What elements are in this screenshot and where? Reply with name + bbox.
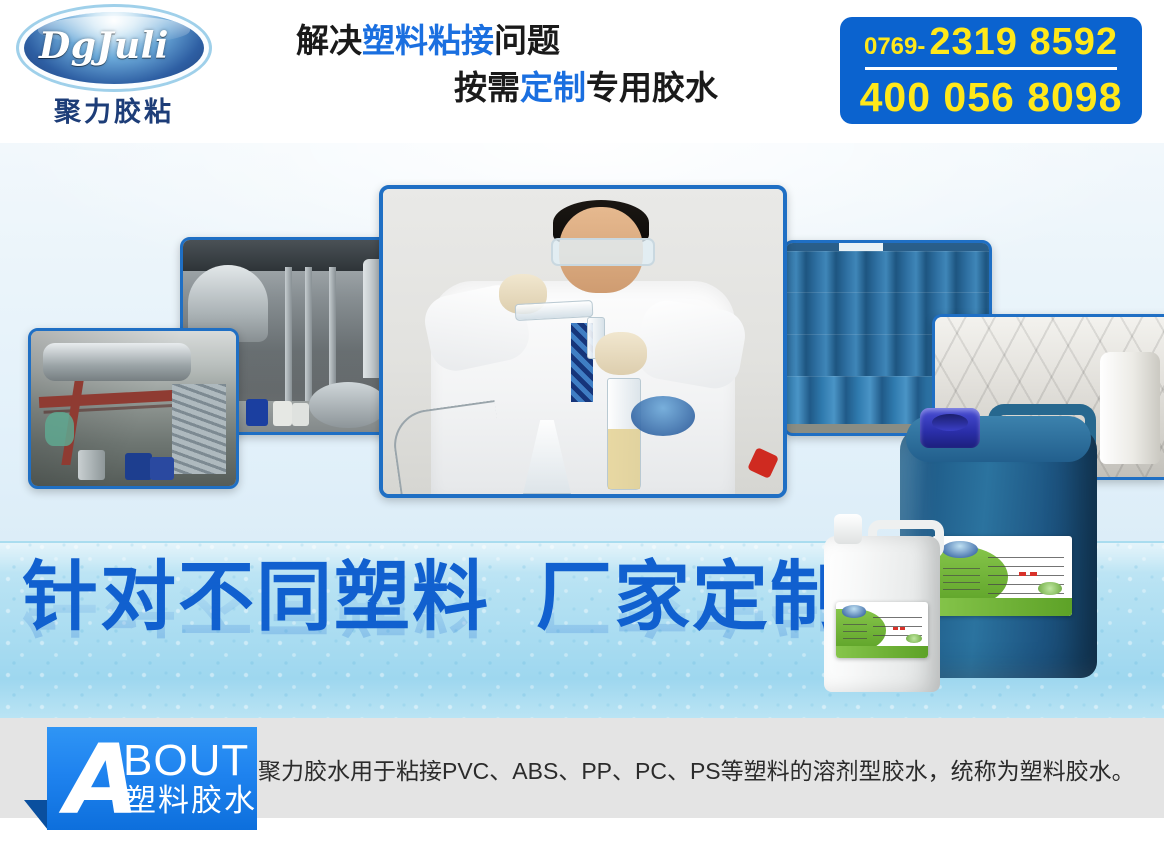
decor-graduated-cylinder — [607, 378, 641, 490]
photo-inner — [383, 189, 783, 494]
decor-silver-drum — [78, 450, 105, 479]
header-slogan: 解决塑料粘接问题 按需定制专用胶水 — [296, 18, 816, 112]
decor-label-red-mark — [1019, 572, 1026, 576]
decor-drum-row — [786, 251, 989, 295]
decor-coat-logo — [631, 396, 695, 436]
slogan-line-1: 解决塑料粘接问题 — [296, 18, 816, 65]
decor-red-cap — [747, 447, 779, 479]
slogan-line2-highlight: 定制 — [520, 69, 586, 106]
decor-white-drum — [273, 401, 292, 426]
slogan-line2-pre: 按需 — [454, 69, 520, 106]
photo-factory-workshop-left — [28, 328, 239, 489]
decor-blue-drum — [246, 399, 268, 426]
about-description: 聚力胶水用于粘接PVC、ABS、PP、PC、PS等塑料的溶剂型胶水，统称为塑料胶… — [258, 756, 1148, 787]
hotline-number: 400 056 8098 — [860, 74, 1123, 121]
slogan-line1-post: 问题 — [494, 22, 560, 59]
decor-label-red-mark — [900, 627, 905, 630]
banner-slogan: 针对不同塑料厂家定制 — [22, 553, 842, 643]
decor-label-seal — [906, 634, 922, 644]
decor-tank — [43, 343, 191, 380]
decor-blue-drum — [150, 457, 175, 480]
product-label-small — [836, 602, 928, 658]
decor-stairs — [172, 384, 225, 474]
decor-red-beam — [39, 389, 191, 408]
photo-inner — [31, 331, 236, 486]
promo-banner-page: DgJuli 聚力胶粘 解决塑料粘接问题 按需定制专用胶水 0769- 2319… — [0, 0, 1164, 859]
banner-slogan-part1: 针对不同塑料 — [22, 555, 490, 640]
decor-label-footer — [836, 646, 928, 658]
decor-safety-goggles — [551, 238, 655, 266]
product-small-white-jerrycan — [824, 510, 940, 692]
landline-row: 0769- 2319 8592 — [840, 21, 1142, 64]
decor-neck — [834, 514, 862, 544]
decor-white-drum — [292, 403, 309, 426]
decor-blue-drum — [125, 453, 152, 479]
logo-wordmark: DgJuli — [14, 10, 194, 82]
decor-green-vessel — [45, 412, 74, 446]
product-label-large — [932, 536, 1072, 616]
brand-logo[interactable]: DgJuli 聚力胶粘 — [14, 10, 214, 135]
decor-label-logo — [842, 605, 866, 617]
photo-lab-technician — [379, 185, 787, 498]
decor-glove-right — [595, 332, 647, 375]
banner-slogan-part2: 厂家定制 — [536, 555, 848, 640]
decor-column — [285, 267, 292, 405]
slogan-line1-highlight: 塑料粘接 — [362, 22, 494, 59]
logo-chinese-name: 聚力胶粘 — [14, 90, 214, 129]
decor-label-red-mark — [893, 627, 898, 630]
decor-label-side-lines — [943, 568, 979, 595]
decor-label-side-lines — [843, 624, 867, 643]
decor-tall-bucket — [1100, 352, 1160, 464]
about-subtitle: 塑料胶水 — [125, 784, 257, 818]
landline-number: 2319 8592 — [929, 21, 1118, 64]
decor-stand-wire — [389, 400, 506, 498]
decor-reactor — [309, 382, 387, 428]
about-word-rest: BOUT — [123, 739, 249, 783]
slogan-line-2: 按需定制专用胶水 — [296, 65, 816, 112]
contact-phone-box[interactable]: 0769- 2319 8592 400 056 8098 — [840, 17, 1142, 124]
about-badge: A BOUT 塑料胶水 — [47, 727, 257, 830]
decor-cap — [920, 408, 980, 448]
phone-area-prefix: 0769- — [864, 33, 925, 61]
decor-label-red-mark — [1030, 572, 1037, 576]
decor-column — [305, 267, 312, 405]
slogan-line1-pre: 解决 — [296, 22, 362, 59]
decor-label-footer — [932, 598, 1072, 616]
phone-divider — [865, 67, 1117, 70]
slogan-line2-post: 专用胶水 — [586, 69, 718, 106]
page-header: DgJuli 聚力胶粘 解决塑料粘接问题 按需定制专用胶水 0769- 2319… — [0, 0, 1164, 143]
